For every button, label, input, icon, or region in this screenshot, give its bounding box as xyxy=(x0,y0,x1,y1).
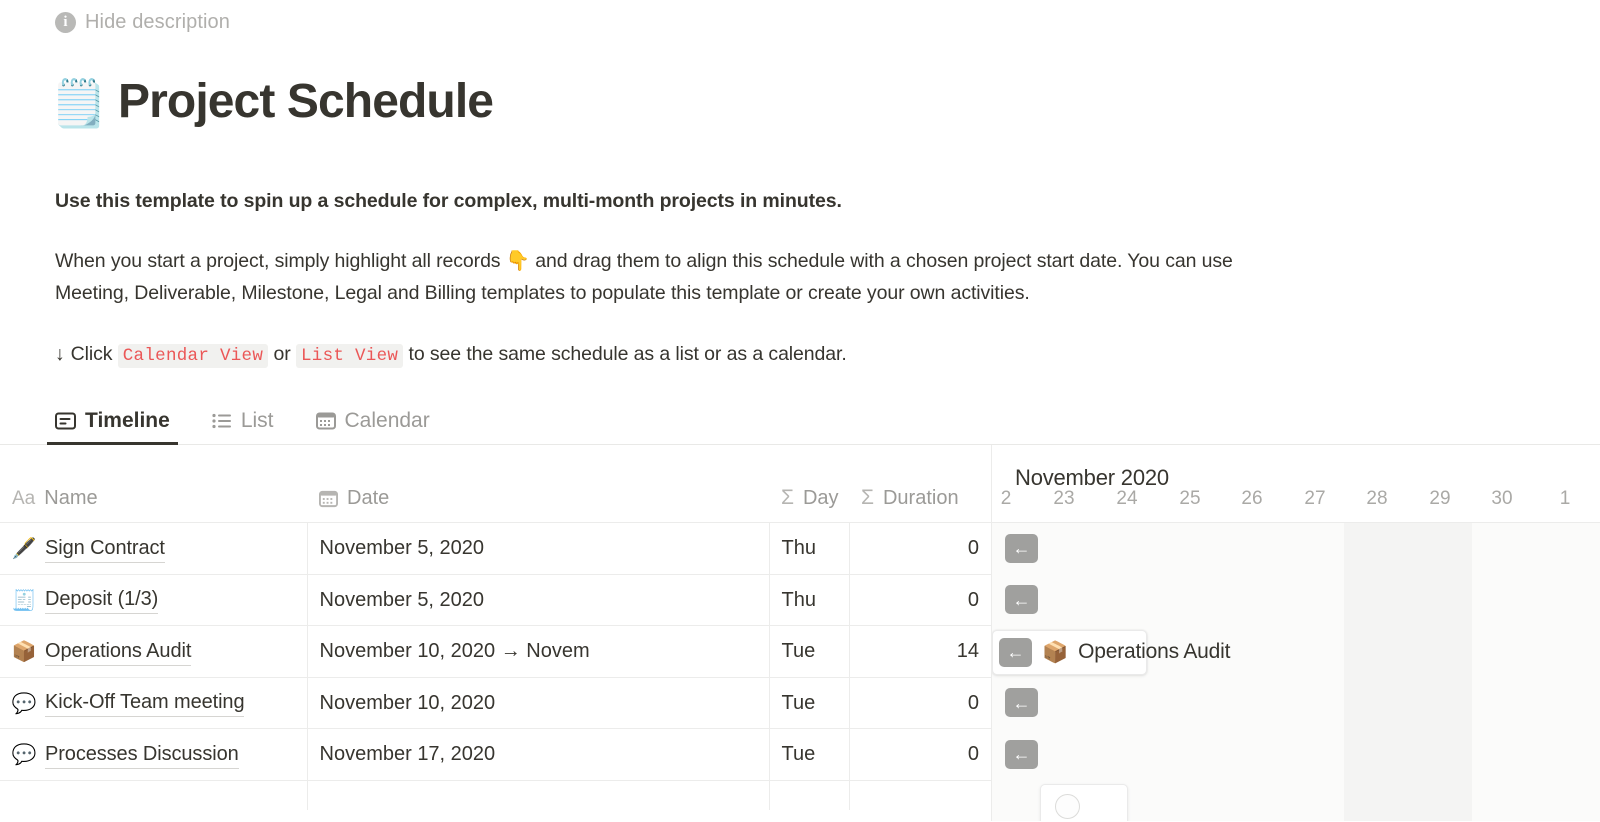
click-or: or xyxy=(274,343,291,365)
cell-name[interactable]: 🧾Deposit (1/3) xyxy=(0,574,307,626)
cell-duration[interactable]: 0 xyxy=(849,574,991,626)
cell-date[interactable]: November 10, 2020 → Novem xyxy=(307,626,769,678)
column-header-date[interactable]: Date xyxy=(307,445,769,523)
cell-duration[interactable] xyxy=(849,780,991,810)
timeline-icon xyxy=(55,412,76,430)
column-header-day-label: Day xyxy=(803,487,839,510)
package-icon: 📦 xyxy=(1042,642,1068,663)
timeline-bar-partial[interactable] xyxy=(1040,784,1128,821)
timeline-pane[interactable]: November 2020 2 23 24 25 26 27 28 29 30 … xyxy=(991,445,1600,821)
table-row[interactable]: 🖋️Sign Contract November 5, 2020 Thu 0 xyxy=(0,523,991,575)
click-word: Click xyxy=(71,343,113,365)
row-title[interactable]: Processes Discussion xyxy=(45,741,239,769)
calendar-icon xyxy=(316,412,336,430)
timeline-day-tick: 26 xyxy=(1221,488,1283,510)
column-header-duration-label: Duration xyxy=(883,487,959,510)
click-tail: to see the same schedule as a list or as… xyxy=(409,343,847,365)
view-tabs: Timeline List Calendar xyxy=(0,399,1600,445)
timeline-day-ticks: 2 23 24 25 26 27 28 29 30 1 xyxy=(992,488,1600,514)
description-paragraph: When you start a project, simply highlig… xyxy=(55,246,1260,309)
table-row[interactable]: 🧾Deposit (1/3) November 5, 2020 Thu 0 xyxy=(0,574,991,626)
tab-list-label: List xyxy=(241,409,274,433)
cell-name[interactable]: 🖋️Sign Contract xyxy=(0,523,307,575)
timeline-header: November 2020 2 23 24 25 26 27 28 29 30 … xyxy=(992,445,1600,523)
column-header-day[interactable]: Σ Day xyxy=(769,445,849,523)
table-row-partial[interactable] xyxy=(0,780,991,810)
timeline-row[interactable]: ← xyxy=(992,729,1600,781)
timeline-bar-label: Operations Audit xyxy=(1078,640,1230,664)
timeline-board: Aa Name Date Σ xyxy=(0,445,1600,821)
cell-date[interactable]: November 10, 2020 xyxy=(307,677,769,729)
page-title-row: 🗒️ Project Schedule xyxy=(0,36,1600,161)
formula-icon: Σ xyxy=(781,486,794,510)
nudge-left-button[interactable]: ← xyxy=(1005,688,1038,717)
timeline-day-tick: 23 xyxy=(1033,488,1095,510)
nudge-left-button[interactable]: ← xyxy=(999,638,1032,667)
cell-day[interactable] xyxy=(769,780,849,810)
tab-timeline[interactable]: Timeline xyxy=(47,409,178,444)
row-title[interactable]: Deposit (1/3) xyxy=(45,586,158,614)
row-title[interactable]: Kick-Off Team meeting xyxy=(45,689,244,717)
column-header-date-label: Date xyxy=(347,487,389,510)
table-row[interactable]: 📦Operations Audit November 10, 2020 → No… xyxy=(0,626,991,678)
tab-list[interactable]: List xyxy=(204,409,282,444)
nudge-left-button[interactable]: ← xyxy=(1005,534,1038,563)
speech-balloon-icon: 💬 xyxy=(12,691,36,716)
nudge-left-button[interactable]: ← xyxy=(1005,585,1038,614)
hide-description-bar[interactable]: i Hide description xyxy=(0,0,1600,36)
table-body: 🖋️Sign Contract November 5, 2020 Thu 0 🧾… xyxy=(0,523,991,811)
cell-day[interactable]: Thu xyxy=(769,523,849,575)
timeline-day-tick: 27 xyxy=(1284,488,1346,510)
timeline-day-tick: 30 xyxy=(1471,488,1533,510)
timeline-row[interactable]: ← xyxy=(992,574,1600,626)
column-header-name-label: Name xyxy=(44,487,97,510)
spiral-notepad-icon[interactable]: 🗒️ xyxy=(54,75,104,131)
column-header-name[interactable]: Aa Name xyxy=(0,445,307,523)
cell-name[interactable] xyxy=(0,780,307,810)
timeline-body[interactable]: ← ← ← 📦 Operations Audit ← ← xyxy=(992,523,1600,821)
calendar-icon xyxy=(319,490,338,508)
pen-icon: 🖋️ xyxy=(12,536,36,561)
cell-day[interactable]: Tue xyxy=(769,729,849,781)
cell-duration[interactable]: 0 xyxy=(849,729,991,781)
table-header-row: Aa Name Date Σ xyxy=(0,445,991,523)
receipt-icon: 🧾 xyxy=(12,588,36,613)
description-click-line: ↓Click Calendar View or List View to see… xyxy=(55,340,1260,369)
hide-description-label[interactable]: Hide description xyxy=(85,11,230,34)
timeline-row[interactable]: ← xyxy=(992,523,1600,575)
cell-date[interactable]: November 17, 2020 xyxy=(307,729,769,781)
tab-calendar[interactable]: Calendar xyxy=(308,409,438,444)
arrow-down-icon: ↓ xyxy=(55,343,65,365)
package-icon: 📦 xyxy=(12,639,36,664)
page-description: Use this template to spin up a schedule … xyxy=(0,187,1260,369)
code-list-view[interactable]: List View xyxy=(296,344,403,368)
cell-name[interactable]: 💬Processes Discussion xyxy=(0,729,307,781)
row-title[interactable]: Sign Contract xyxy=(45,535,165,563)
page-title: Project Schedule xyxy=(118,76,493,129)
row-title[interactable]: Operations Audit xyxy=(45,638,191,666)
timeline-day-tick: 29 xyxy=(1409,488,1471,510)
schedule-table: Aa Name Date Σ xyxy=(0,445,991,811)
timeline-day-tick: 2 xyxy=(991,488,1037,510)
timeline-row[interactable]: ← 📦 Operations Audit xyxy=(992,626,1600,678)
timeline-row-partial[interactable] xyxy=(992,780,1600,821)
list-icon xyxy=(212,413,232,429)
pointing-down-icon: 👇 xyxy=(506,250,530,272)
cell-date[interactable] xyxy=(307,780,769,810)
avatar-placeholder-icon xyxy=(1055,794,1080,819)
speech-balloon-icon: 💬 xyxy=(12,742,36,767)
cell-date[interactable]: November 5, 2020 xyxy=(307,523,769,575)
description-paragraph-part1: When you start a project, simply highlig… xyxy=(55,250,506,272)
formula-icon: Σ xyxy=(861,486,874,510)
timeline-day-tick: 1 xyxy=(1534,488,1596,510)
table-row[interactable]: 💬Kick-Off Team meeting November 10, 2020… xyxy=(0,677,991,729)
timeline-day-tick: 28 xyxy=(1346,488,1408,510)
cell-duration[interactable]: 0 xyxy=(849,677,991,729)
cell-day[interactable]: Thu xyxy=(769,574,849,626)
code-calendar-view[interactable]: Calendar View xyxy=(118,344,268,368)
timeline-day-tick: 24 xyxy=(1096,488,1158,510)
cell-name[interactable]: 📦Operations Audit xyxy=(0,626,307,678)
grid-pane: Aa Name Date Σ xyxy=(0,445,991,821)
timeline-bar-operations-audit[interactable]: ← 📦 Operations Audit xyxy=(992,630,1147,675)
tab-timeline-label: Timeline xyxy=(85,409,170,433)
cell-name[interactable]: 💬Kick-Off Team meeting xyxy=(0,677,307,729)
cell-duration[interactable]: 0 xyxy=(849,523,991,575)
cell-day[interactable]: Tue xyxy=(769,677,849,729)
table-row[interactable]: 💬Processes Discussion November 17, 2020 … xyxy=(0,729,991,781)
column-header-duration[interactable]: Σ Duration xyxy=(849,445,991,523)
info-icon: i xyxy=(55,12,76,33)
timeline-day-tick: 25 xyxy=(1159,488,1221,510)
description-lead: Use this template to spin up a schedule … xyxy=(55,187,1260,215)
text-type-icon: Aa xyxy=(12,488,35,510)
cell-date[interactable]: November 5, 2020 xyxy=(307,574,769,626)
timeline-row[interactable]: ← xyxy=(992,677,1600,729)
tab-calendar-label: Calendar xyxy=(345,409,430,433)
nudge-left-button[interactable]: ← xyxy=(1005,740,1038,769)
cell-day[interactable]: Tue xyxy=(769,626,849,678)
cell-duration[interactable]: 14 xyxy=(849,626,991,678)
